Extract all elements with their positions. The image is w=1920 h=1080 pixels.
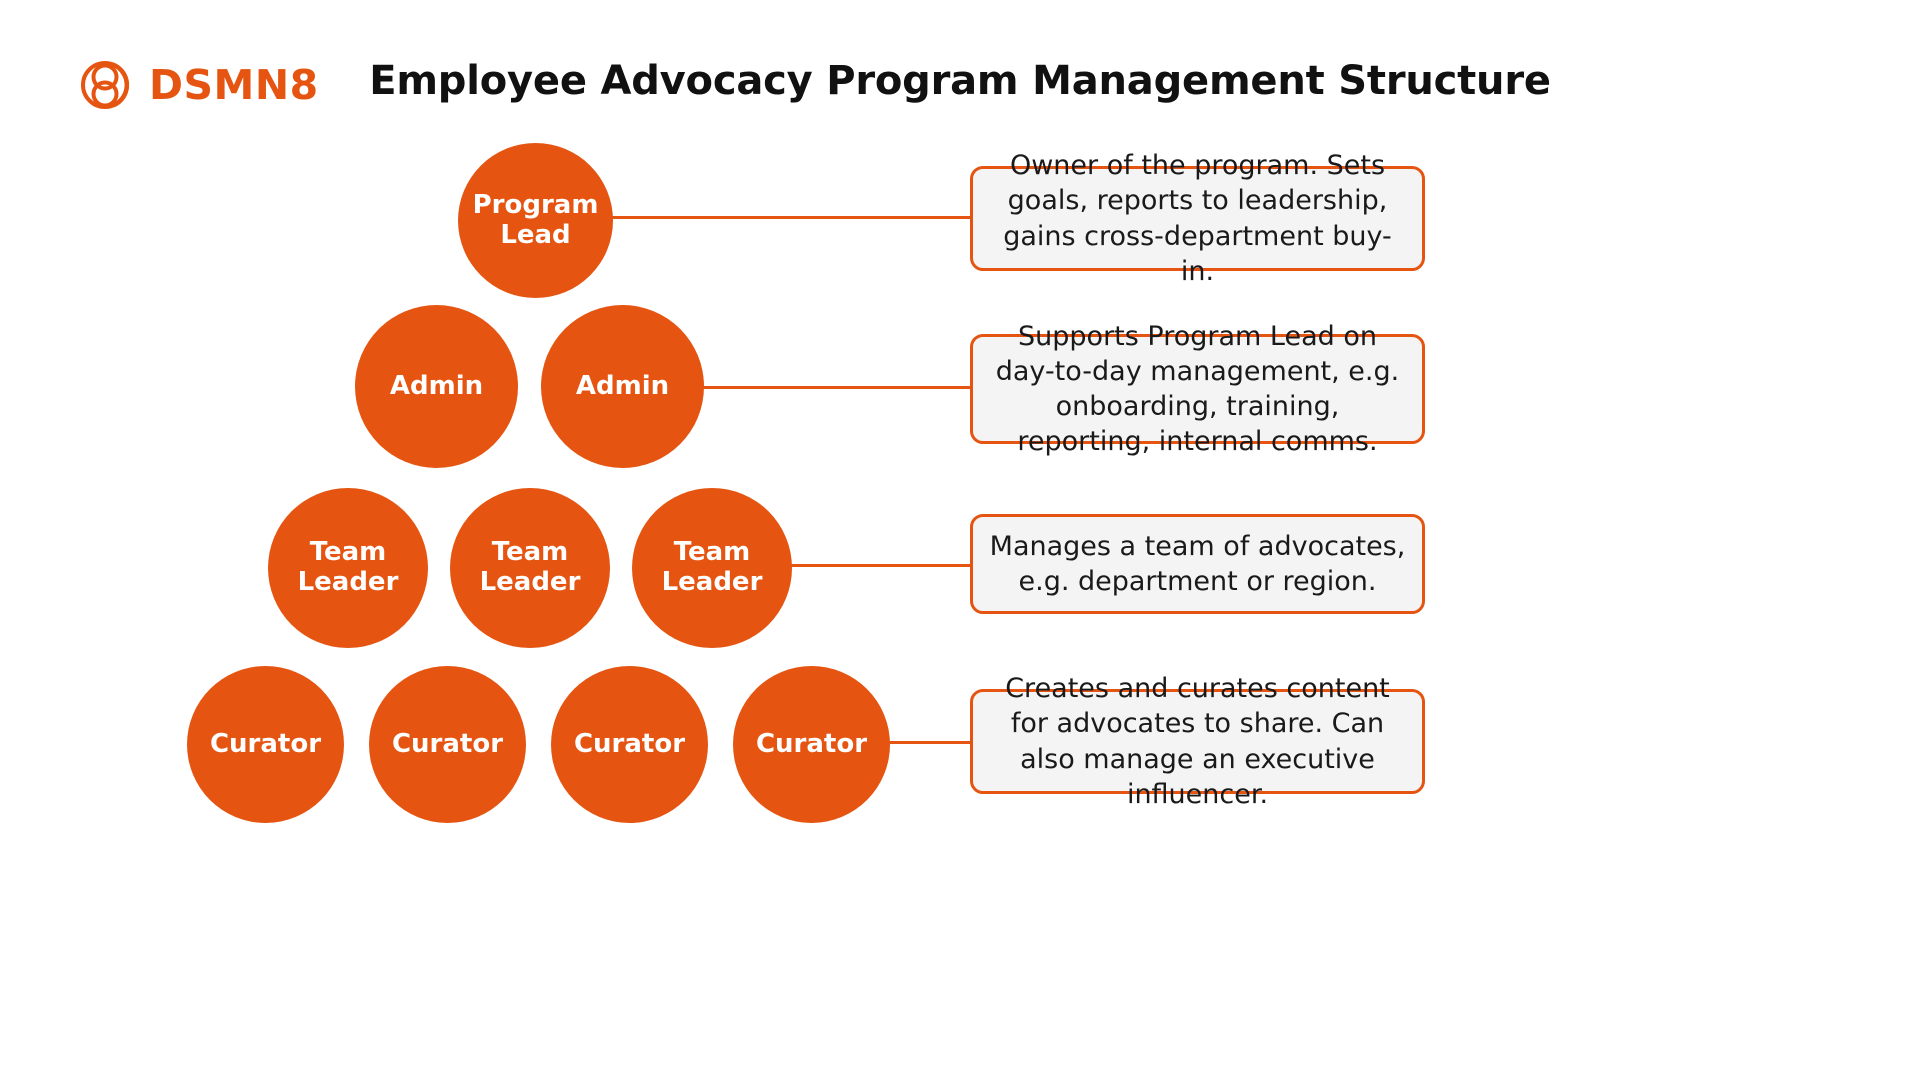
callout-program-lead: Owner of the program. Sets goals, report… bbox=[970, 166, 1425, 271]
node-curator-2[interactable]: Curator bbox=[369, 666, 526, 823]
callout-team-leader: Manages a team of advocates, e.g. depart… bbox=[970, 514, 1425, 614]
callout-curator: Creates and curates content for advocate… bbox=[970, 689, 1425, 794]
node-team-leader-3[interactable]: Team Leader bbox=[632, 488, 792, 648]
connector-admin bbox=[700, 386, 975, 389]
connector-curator bbox=[886, 741, 975, 744]
org-structure-diagram: Program Lead Owner of the program. Sets … bbox=[0, 0, 1920, 1080]
callout-admin: Supports Program Lead on day-to-day mana… bbox=[970, 334, 1425, 444]
node-program-lead-1[interactable]: Program Lead bbox=[458, 143, 613, 298]
connector-team-leader bbox=[788, 564, 975, 567]
node-admin-2[interactable]: Admin bbox=[541, 305, 704, 468]
connector-program-lead bbox=[610, 216, 975, 219]
node-admin-1[interactable]: Admin bbox=[355, 305, 518, 468]
node-curator-1[interactable]: Curator bbox=[187, 666, 344, 823]
node-curator-4[interactable]: Curator bbox=[733, 666, 890, 823]
node-team-leader-2[interactable]: Team Leader bbox=[450, 488, 610, 648]
node-team-leader-1[interactable]: Team Leader bbox=[268, 488, 428, 648]
node-curator-3[interactable]: Curator bbox=[551, 666, 708, 823]
